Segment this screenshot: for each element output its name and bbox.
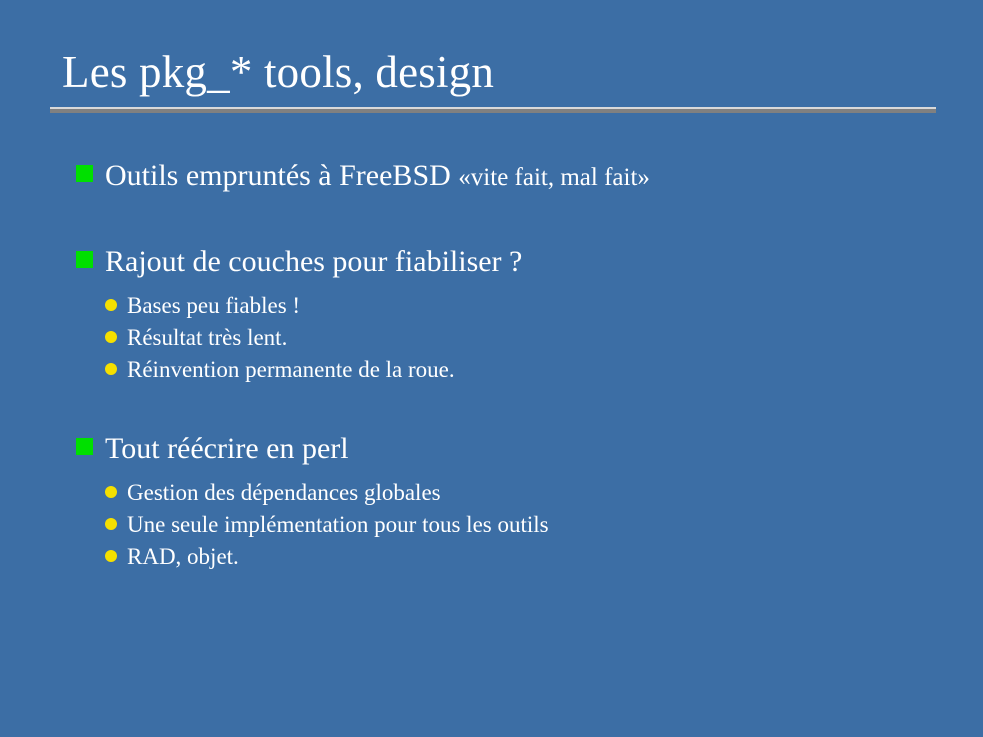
bullet-level2-label: Gestion des dépendances globales: [127, 477, 441, 509]
bullet-level2: RAD, objet.: [105, 541, 956, 573]
bullet-level2: Résultat très lent.: [105, 322, 956, 354]
slide-title-block: Les pkg_* tools, design: [50, 44, 936, 113]
bullet-group: Rajout de couches pour fiabiliser ? Base…: [76, 241, 956, 386]
bullet-level2: Gestion des dépendances globales: [105, 477, 956, 509]
bullet-level1: Outils empruntés à FreeBSD «vite fait, m…: [76, 155, 956, 199]
bullet-level2-list: Gestion des dépendances globales Une seu…: [76, 477, 956, 573]
bullet-level2: Réinvention permanente de la roue.: [105, 354, 956, 386]
presentation-slide: Les pkg_* tools, design Outils empruntés…: [0, 0, 983, 737]
bullet-level1-text: Outils empruntés à FreeBSD: [105, 159, 458, 192]
title-divider: [50, 107, 936, 113]
bullet-level2: Bases peu fiables !: [105, 290, 956, 322]
bullet-level1-label: Rajout de couches pour fiabiliser ?: [105, 241, 522, 283]
bullet-level1: Rajout de couches pour fiabiliser ?: [76, 241, 956, 283]
bullet-level1-label: Outils empruntés à FreeBSD «vite fait, m…: [105, 155, 650, 199]
bullet-level1-label: Tout réécrire en perl: [105, 428, 349, 470]
bullet-level2-label: Une seule implémentation pour tous les o…: [127, 509, 549, 541]
bullet-level1-quote: «vite fait, mal fait»: [458, 164, 650, 191]
bullet-level2-label: Réinvention permanente de la roue.: [127, 354, 455, 386]
bullet-level2-list: Bases peu fiables ! Résultat très lent. …: [76, 290, 956, 386]
bullet-level2-label: Bases peu fiables !: [127, 290, 300, 322]
bullet-level2-label: Résultat très lent.: [127, 322, 287, 354]
bullet-level1-text: Tout réécrire en perl: [105, 432, 349, 465]
page-title: Les pkg_* tools, design: [50, 44, 936, 100]
bullet-level2: Une seule implémentation pour tous les o…: [105, 509, 956, 541]
bullet-group: Tout réécrire en perl Gestion des dépend…: [76, 428, 956, 573]
bullet-level1-text: Rajout de couches pour fiabiliser ?: [105, 245, 522, 278]
slide-body: Outils empruntés à FreeBSD «vite fait, m…: [76, 155, 956, 573]
bullet-level1: Tout réécrire en perl: [76, 428, 956, 470]
bullet-level2-label: RAD, objet.: [127, 541, 239, 573]
bullet-group: Outils empruntés à FreeBSD «vite fait, m…: [76, 155, 956, 199]
